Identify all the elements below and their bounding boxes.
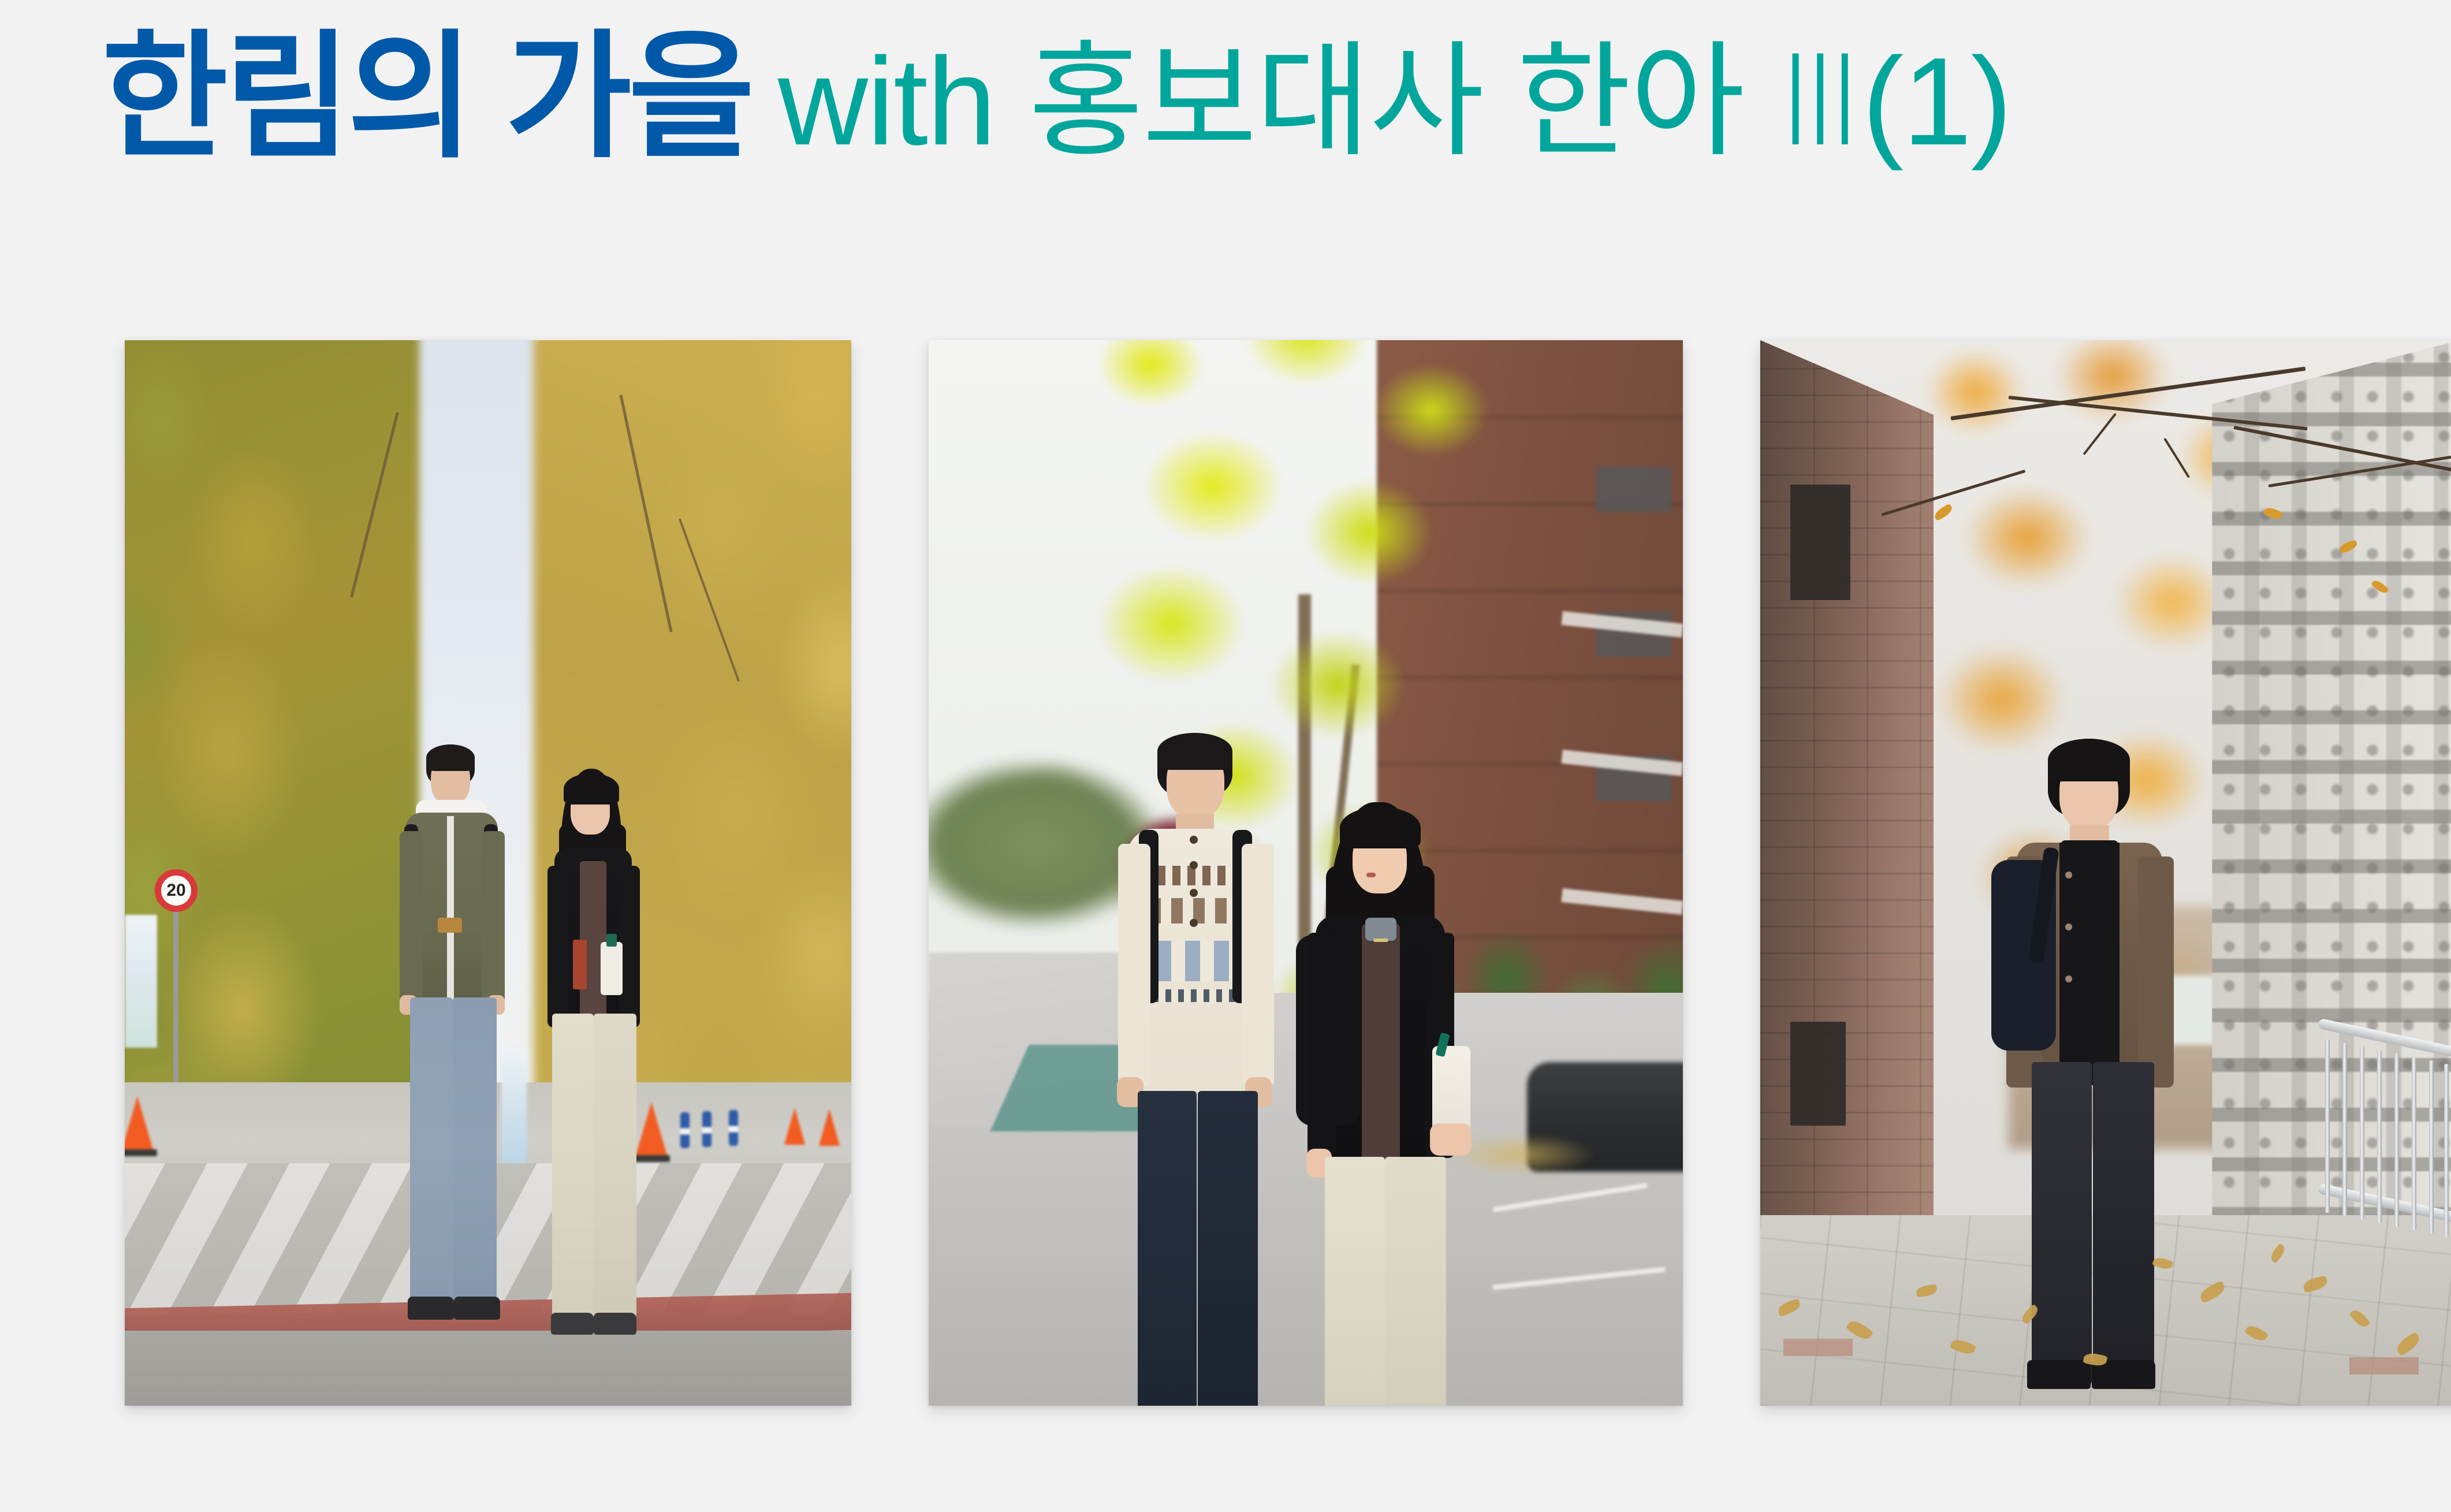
page-title: 한림의 가을 with 홍보대사 한아 Ⅲ(1)	[102, 29, 2011, 260]
cone-base	[125, 1149, 157, 1156]
tumbler	[1432, 1046, 1470, 1136]
tumbler-straw	[606, 934, 617, 947]
photo-1-scene: 20	[125, 340, 851, 1406]
red-paver	[2349, 1357, 2419, 1375]
brown-tee	[1362, 923, 1400, 1166]
sign-pole	[173, 892, 178, 1082]
gallery-photo-2[interactable]	[929, 340, 1683, 1406]
title-sub-text: with 홍보대사 한아 Ⅲ(1)	[778, 39, 2011, 163]
traffic-cone	[784, 1108, 805, 1145]
necklace	[1373, 939, 1388, 942]
bollard	[702, 1111, 712, 1147]
speed-limit-sign: 20	[155, 869, 198, 912]
gallery-photo-1[interactable]: 20	[125, 340, 851, 1406]
title-main-text: 한림의 가을	[102, 29, 751, 166]
poster-page: 한림의 가을 with 홍보대사 한아 Ⅲ(1)	[0, 0, 2451, 1512]
photo-2-scene	[929, 340, 1683, 1406]
person-male-student	[396, 744, 512, 1368]
bollard	[729, 1110, 738, 1146]
person-male-student	[1991, 739, 2188, 1386]
photo-gallery: 20	[102, 331, 2345, 1415]
traffic-cone	[125, 1096, 154, 1152]
campus-banner-left	[125, 915, 157, 1048]
gallery-photo-3[interactable]	[1760, 340, 2451, 1406]
red-paver	[1783, 1339, 1853, 1356]
person-male-student	[1102, 733, 1292, 1406]
speed-limit-value: 20	[166, 881, 185, 900]
photo-3-scene	[1760, 340, 2451, 1406]
bollard	[680, 1112, 690, 1148]
traffic-cone	[819, 1109, 840, 1146]
tumbler	[601, 942, 623, 995]
handrail	[2319, 1007, 2451, 1331]
person-female-student	[538, 769, 648, 1369]
red-book	[573, 940, 587, 989]
person-female-student	[1292, 802, 1477, 1406]
